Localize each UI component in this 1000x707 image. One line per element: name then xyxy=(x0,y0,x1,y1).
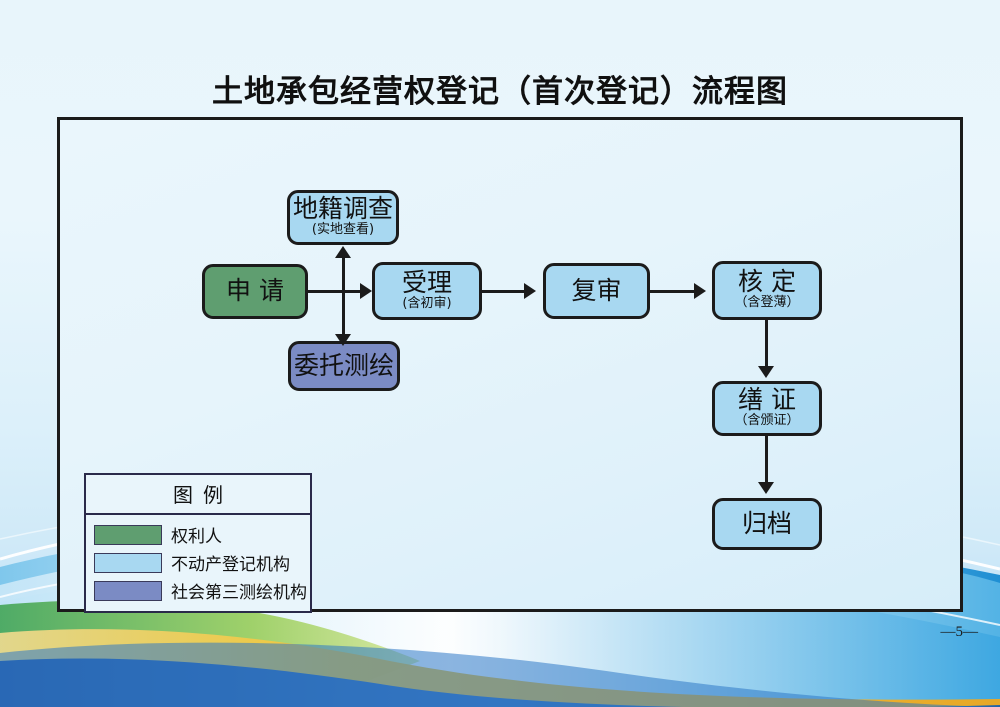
node-shenqing-label: 申 请 xyxy=(226,278,284,304)
node-dijidiaocha-label: 地籍调查 xyxy=(293,196,393,222)
page-number: —5— xyxy=(941,624,979,641)
legend-item-budongchan: 不动产登记机构 xyxy=(94,550,302,575)
node-fushen[interactable]: 复审 xyxy=(543,263,650,319)
node-heding-label: 核 定 xyxy=(738,269,796,295)
node-shanzheng[interactable]: 缮 证 （含颁证） xyxy=(712,381,822,436)
node-shanzheng-label: 缮 证 xyxy=(738,387,796,413)
node-shouli-label: 受理 xyxy=(402,270,452,296)
node-fushen-label: 复审 xyxy=(571,278,621,304)
node-heding-sublabel: （含登薄） xyxy=(734,296,799,310)
arrowhead-to-shanzheng xyxy=(758,366,774,378)
arrowhead-to-shouli xyxy=(360,283,372,299)
page-title: 土地承包经营权登记（首次登记）流程图 xyxy=(0,66,1000,111)
legend-title: 图例 xyxy=(86,475,310,515)
legend-swatch-purple xyxy=(94,581,162,601)
connector-shenqing-junction xyxy=(308,290,346,293)
node-weituocehui[interactable]: 委托测绘 xyxy=(288,341,400,391)
legend-label-cehui: 社会第三测绘机构 xyxy=(171,578,307,603)
connector-shouli-fushen xyxy=(482,290,526,293)
node-shouli-sublabel: (含初审) xyxy=(402,297,451,311)
node-shenqing[interactable]: 申 请 xyxy=(202,264,308,319)
node-weituocehui-label: 委托测绘 xyxy=(294,353,394,379)
legend-swatch-blue xyxy=(94,553,162,573)
legend-item-cehui: 社会第三测绘机构 xyxy=(94,578,302,603)
connector-branch-vertical xyxy=(342,252,345,342)
arrowhead-to-guidang xyxy=(758,482,774,494)
node-dijidiaocha[interactable]: 地籍调查 (实地查看) xyxy=(287,190,399,245)
node-guidang-label: 归档 xyxy=(742,511,792,537)
arrowhead-to-fushen xyxy=(524,283,536,299)
connector-heding-shanzheng xyxy=(765,320,768,368)
arrowhead-to-dijidiaocha xyxy=(335,246,351,258)
legend-item-quanliren: 权利人 xyxy=(94,522,302,547)
legend-body: 权利人 不动产登记机构 社会第三测绘机构 xyxy=(86,515,310,611)
node-guidang[interactable]: 归档 xyxy=(712,498,822,550)
arrowhead-to-heding xyxy=(694,283,706,299)
node-shanzheng-sublabel: （含颁证） xyxy=(734,414,799,428)
connector-shanzheng-guidang xyxy=(765,436,768,484)
node-heding[interactable]: 核 定 （含登薄） xyxy=(712,261,822,320)
slide-canvas: 土地承包经营权登记（首次登记）流程图 —5— 地籍调查 (实地查看) 申 请 受… xyxy=(0,0,1000,707)
connector-fushen-heding xyxy=(650,290,696,293)
legend-swatch-green xyxy=(94,525,162,545)
node-shouli[interactable]: 受理 (含初审) xyxy=(372,262,482,320)
legend-label-quanliren: 权利人 xyxy=(171,522,222,547)
legend-box: 图例 权利人 不动产登记机构 社会第三测绘机构 xyxy=(84,473,312,613)
legend-label-budongchan: 不动产登记机构 xyxy=(171,550,290,575)
arrowhead-to-weituocehui xyxy=(335,334,351,346)
node-dijidiaocha-sublabel: (实地查看) xyxy=(312,223,374,237)
